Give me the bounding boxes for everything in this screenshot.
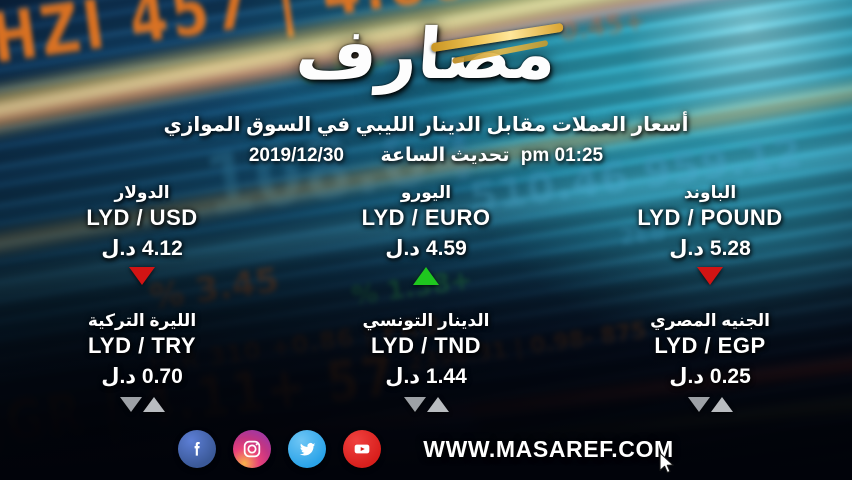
- trend-up-icon: [413, 265, 439, 287]
- rate-pair: LYD / EGP: [654, 333, 765, 359]
- rate-name: الجنيه المصري: [650, 310, 770, 331]
- rate-card-try[interactable]: الليرة التركية LYD / TRY 0.70 د.ل: [0, 308, 284, 428]
- rate-name: الباوند: [684, 182, 736, 203]
- trend-down-icon: [129, 265, 155, 287]
- rate-value: 1.44 د.ل: [385, 364, 467, 389]
- rate-pair: LYD / USD: [86, 205, 197, 231]
- rate-value: 4.12 د.ل: [101, 236, 183, 261]
- trend-neutral-icon: [688, 393, 733, 415]
- rates-grid: الباوند LYD / POUND 5.28 د.ل اليورو LYD …: [0, 180, 852, 428]
- rate-card-pound[interactable]: الباوند LYD / POUND 5.28 د.ل: [568, 180, 852, 308]
- social-links: [178, 430, 381, 468]
- mouse-cursor: [659, 452, 676, 476]
- update-time: 01:25 pm: [521, 145, 603, 166]
- brand-logo-text: مصارف: [293, 13, 559, 95]
- rate-value: 5.28 د.ل: [669, 236, 751, 261]
- facebook-icon[interactable]: [178, 430, 216, 468]
- twitter-icon[interactable]: [288, 430, 326, 468]
- rate-name: اليورو: [401, 182, 451, 203]
- trend-neutral-icon: [120, 393, 165, 415]
- rate-value: 4.59 د.ل: [385, 236, 467, 261]
- rate-card-euro[interactable]: اليورو LYD / EURO 4.59 د.ل: [284, 180, 568, 308]
- youtube-icon[interactable]: [343, 430, 381, 468]
- update-label: تحديث الساعة: [381, 145, 510, 166]
- rate-card-usd[interactable]: الدولار LYD / USD 4.12 د.ل: [0, 180, 284, 308]
- rate-value: 0.25 د.ل: [669, 364, 751, 389]
- rate-name: الليرة التركية: [88, 310, 196, 331]
- rate-name: الدينار التونسي: [363, 310, 490, 331]
- rate-pair: LYD / TRY: [88, 333, 196, 359]
- website-url[interactable]: WWW.MASAREF.COM: [423, 436, 673, 463]
- rate-pair: LYD / TND: [371, 333, 481, 359]
- rate-card-tnd[interactable]: الدينار التونسي LYD / TND 1.44 د.ل: [284, 308, 568, 428]
- rate-card-egp[interactable]: الجنيه المصري LYD / EGP 0.25 د.ل: [568, 308, 852, 428]
- brand-logo: مصارف: [0, 2, 852, 106]
- trend-neutral-icon: [404, 393, 449, 415]
- update-line: 01:25 pm تحديث الساعة 2019/12/30: [0, 144, 852, 167]
- rate-name: الدولار: [114, 182, 169, 203]
- rate-value: 0.70 د.ل: [101, 364, 183, 389]
- update-date: 2019/12/30: [249, 145, 344, 166]
- currency-rates-screen: 108.64 959.12 510.46 -0.88 +0.45 2E8 234…: [0, 0, 852, 480]
- trend-down-icon: [697, 265, 723, 287]
- page-headline: أسعار العملات مقابل الدينار الليبي في ال…: [0, 112, 852, 137]
- instagram-icon[interactable]: [233, 430, 271, 468]
- footer: WWW.MASAREF.COM: [0, 418, 852, 480]
- rate-pair: LYD / POUND: [637, 205, 782, 231]
- rate-pair: LYD / EURO: [362, 205, 491, 231]
